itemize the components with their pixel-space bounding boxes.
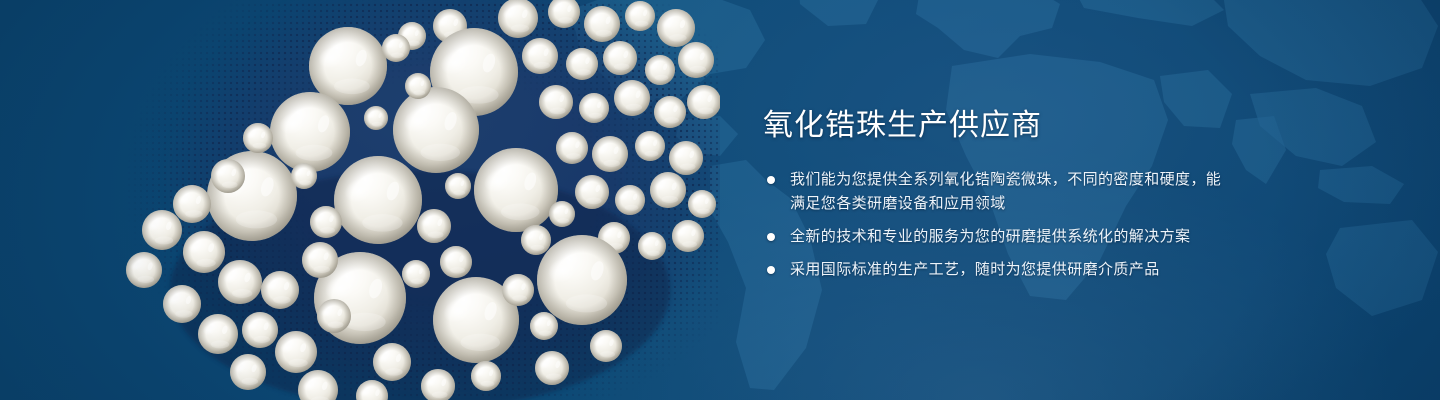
page-title: 氧化锆珠生产供应商 [763, 106, 1233, 146]
bullet-dot-icon [767, 233, 775, 241]
bullet-dot-icon [767, 266, 775, 274]
bullet-dot-icon [767, 176, 775, 184]
zirconia-beads-photo [120, 0, 720, 400]
list-item-text: 我们能为您提供全系列氧化锆陶瓷微珠，不同的密度和硬度，能满足您各类研磨设备和应用… [790, 171, 1221, 212]
bead-cluster-illustration [120, 0, 720, 400]
list-item-text: 全新的技术和专业的服务为您的研磨提供系统化的解决方案 [790, 228, 1190, 245]
list-item: 采用国际标准的生产工艺，随时为您提供研磨介质产品 [763, 258, 1233, 282]
feature-list: 我们能为您提供全系列氧化锆陶瓷微珠，不同的密度和硬度，能满足您各类研磨设备和应用… [763, 168, 1233, 282]
list-item: 全新的技术和专业的服务为您的研磨提供系统化的解决方案 [763, 225, 1233, 249]
list-item-text: 采用国际标准的生产工艺，随时为您提供研磨介质产品 [790, 261, 1160, 278]
banner-copy: 氧化锆珠生产供应商 我们能为您提供全系列氧化锆陶瓷微珠，不同的密度和硬度，能满足… [763, 106, 1233, 282]
list-item: 我们能为您提供全系列氧化锆陶瓷微珠，不同的密度和硬度，能满足您各类研磨设备和应用… [763, 168, 1233, 216]
hero-banner: 氧化锆珠生产供应商 我们能为您提供全系列氧化锆陶瓷微珠，不同的密度和硬度，能满足… [0, 0, 1440, 400]
